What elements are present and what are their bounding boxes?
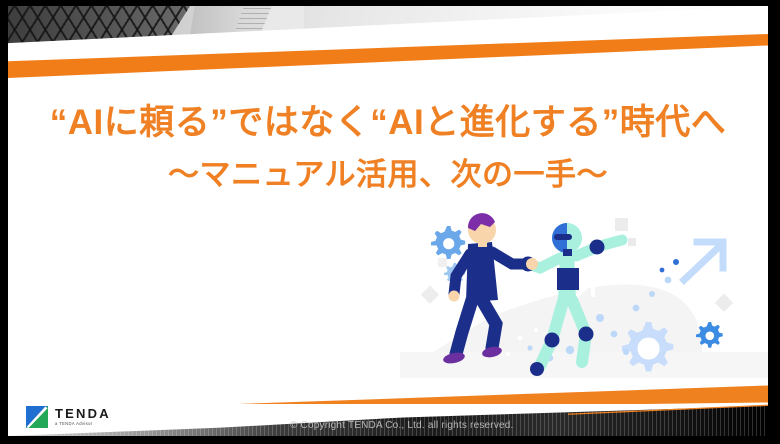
slide-canvas: “AIに頼る”ではなく“AIと進化する”時代へ 〜マニュアル活用、次の一手〜	[8, 6, 768, 436]
gear-large-blue-icon	[431, 226, 465, 259]
copyright-text: © Copyright TENDA Co., Ltd. all rights r…	[290, 420, 514, 431]
human-hand-back	[449, 291, 460, 302]
decor-square-2	[628, 238, 636, 246]
human-neck	[478, 240, 487, 247]
human-hand-front	[526, 258, 538, 270]
decor-square-1	[615, 218, 628, 231]
tenda-logo-text: TENDA a TENDA Advisor	[55, 407, 111, 426]
tenda-logo: TENDA a TENDA Advisor	[26, 406, 111, 428]
tenda-logo-mark-icon	[26, 406, 48, 428]
robot-joint-left-knee	[545, 333, 560, 348]
logo-tagline: a TENDA Advisor	[55, 422, 111, 426]
logo-company-name: TENDA	[55, 407, 111, 420]
robot-neck	[563, 249, 572, 256]
decor-dots-dark	[660, 259, 679, 272]
slide-title: “AIに頼る”ではなく“AIと進化する”時代へ	[8, 102, 768, 145]
illustration-human-robot-handshake	[400, 202, 768, 378]
robot-joint-right-knee	[579, 327, 594, 342]
decor-diamond-1	[421, 286, 439, 304]
slide-subtitle: 〜マニュアル活用、次の一手〜	[8, 155, 768, 195]
title-block: “AIに頼る”ではなく“AIと進化する”時代へ 〜マニュアル活用、次の一手〜	[8, 102, 768, 195]
slide-frame: “AIに頼る”ではなく“AIと進化する”時代へ 〜マニュアル活用、次の一手〜	[0, 0, 780, 444]
arrow-up-right-large-icon	[684, 242, 723, 280]
robot-joint-right-elbow	[590, 240, 605, 255]
decor-diamond-2	[715, 294, 733, 312]
robot-joint-left-foot	[530, 362, 544, 376]
decor-square-3	[438, 258, 447, 267]
robot-chest-panel	[557, 268, 579, 290]
